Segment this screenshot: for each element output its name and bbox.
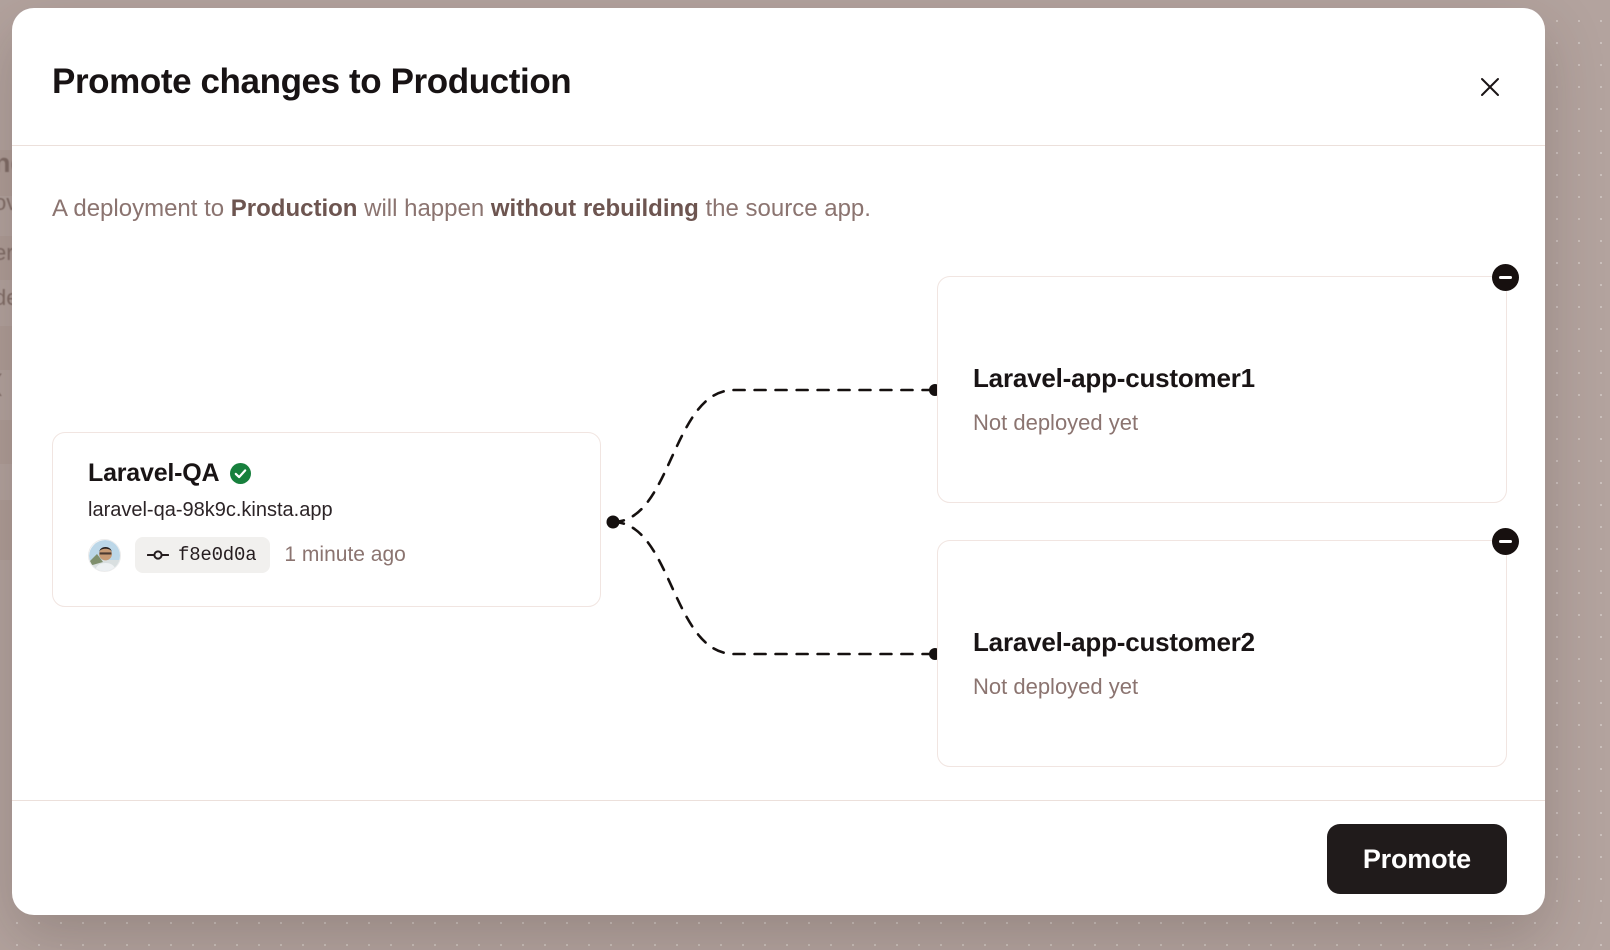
git-commit-icon [147, 548, 169, 562]
target-app-status: Not deployed yet [973, 674, 1138, 700]
edge-to-customer1 [613, 390, 935, 522]
avatar [88, 539, 121, 572]
minus-circle-icon[interactable] [1492, 264, 1519, 291]
dialog-subtitle: A deployment to Production will happen w… [52, 192, 871, 226]
page-title: Promote changes to Production [52, 62, 571, 102]
target-app-card[interactable]: Laravel-app-customer2 Not deployed yet [937, 540, 1507, 767]
source-app-meta: f8e0d0a 1 minute ago [88, 537, 406, 573]
promote-dialog: Promote changes to Production A deployme… [12, 8, 1545, 915]
target-app-name: Laravel-app-customer2 [973, 627, 1255, 658]
commit-hash: f8e0d0a [178, 544, 256, 566]
minus-circle-icon[interactable] [1492, 528, 1519, 555]
target-app-name: Laravel-app-customer1 [973, 363, 1255, 394]
close-icon[interactable] [1473, 70, 1507, 104]
dialog-footer: Promote [12, 800, 1545, 915]
promotion-graph: Laravel-QA laravel-qa-98k9c.kinsta.app [12, 248, 1545, 798]
minus-glyph [1499, 540, 1512, 543]
subtitle-bold-production: Production [231, 195, 358, 222]
minus-glyph [1499, 276, 1512, 279]
promote-button[interactable]: Promote [1327, 824, 1507, 894]
subtitle-part-1: A deployment to [52, 195, 231, 222]
dialog-header: Promote changes to Production [12, 8, 1545, 146]
source-app-url: laravel-qa-98k9c.kinsta.app [88, 499, 333, 522]
source-app-card[interactable]: Laravel-QA laravel-qa-98k9c.kinsta.app [52, 432, 601, 607]
source-app-name-row: Laravel-QA [88, 459, 251, 488]
subtitle-part-2: will happen [357, 195, 490, 222]
subtitle-bold-rebuilding: without rebuilding [491, 195, 699, 222]
verified-check-icon [230, 463, 251, 484]
target-app-card[interactable]: Laravel-app-customer1 Not deployed yet [937, 276, 1507, 503]
subtitle-part-3: the source app. [699, 195, 871, 222]
source-deploy-time: 1 minute ago [284, 543, 405, 567]
target-app-status: Not deployed yet [973, 410, 1138, 436]
edge-source-dot [607, 516, 620, 529]
source-app-name: Laravel-QA [88, 459, 219, 488]
commit-chip[interactable]: f8e0d0a [135, 537, 270, 573]
edge-to-customer2 [613, 522, 935, 654]
